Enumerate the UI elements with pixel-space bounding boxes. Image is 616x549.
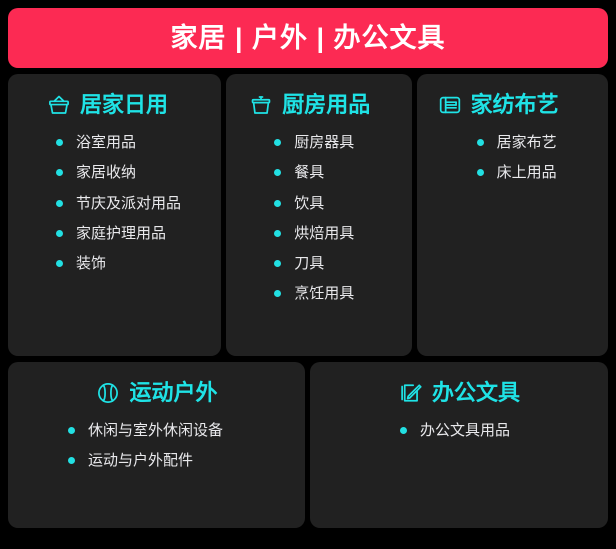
bullet-dot-icon <box>274 139 281 146</box>
list-item[interactable]: 餐具 <box>274 164 401 181</box>
list-item[interactable]: 饮具 <box>274 195 401 212</box>
list-item-label: 装饰 <box>76 255 106 272</box>
list-item[interactable]: 刀具 <box>274 255 401 272</box>
list-item-label: 饮具 <box>294 195 324 212</box>
list-item[interactable]: 办公文具用品 <box>400 422 598 439</box>
bullet-dot-icon <box>274 200 281 207</box>
bullet-dot-icon <box>400 427 407 434</box>
bullet-dot-icon <box>56 230 63 237</box>
bullet-dot-icon <box>56 260 63 267</box>
card-title: 家纺布艺 <box>471 94 559 116</box>
category-card-sports-outdoor[interactable]: 运动户外 休闲与室外休闲设备 运动与户外配件 <box>8 362 305 528</box>
list-item-label: 厨房器具 <box>294 134 354 151</box>
bullet-dot-icon <box>477 169 484 176</box>
list-item[interactable]: 节庆及派对用品 <box>56 195 211 212</box>
bullet-dot-icon <box>477 139 484 146</box>
list-item[interactable]: 装饰 <box>56 255 211 272</box>
card-header: 运动户外 <box>18 380 295 406</box>
bullet-dot-icon <box>68 457 75 464</box>
pot-icon <box>248 92 274 118</box>
list-item-label: 刀具 <box>294 255 324 272</box>
list-item-label: 烹饪用具 <box>294 285 354 302</box>
bullet-dot-icon <box>56 200 63 207</box>
list-item-label: 家庭护理用品 <box>76 225 166 242</box>
card-title: 居家日用 <box>80 94 168 116</box>
list-item[interactable]: 床上用品 <box>477 164 598 181</box>
list-item-label: 休闲与室外休闲设备 <box>88 422 223 439</box>
category-board: 家居 | 户外 | 办公文具 居家日用 浴室用品 <box>0 0 616 549</box>
bed-textile-icon <box>437 92 463 118</box>
card-header: 办公文具 <box>320 380 598 406</box>
list-item-label: 床上用品 <box>497 164 557 181</box>
category-card-home-daily[interactable]: 居家日用 浴室用品 家居收纳 节庆及派对用品 家庭护理用品 <box>8 74 221 356</box>
basket-icon <box>46 92 72 118</box>
bullet-dot-icon <box>274 260 281 267</box>
card-row-bottom: 运动户外 休闲与室外休闲设备 运动与户外配件 <box>8 362 608 528</box>
list-item[interactable]: 浴室用品 <box>56 134 211 151</box>
header-banner: 家居 | 户外 | 办公文具 <box>8 8 608 68</box>
list-item-label: 餐具 <box>294 164 324 181</box>
card-header: 家纺布艺 <box>427 92 598 118</box>
category-card-office-stationery[interactable]: 办公文具 办公文具用品 <box>310 362 608 528</box>
list-item[interactable]: 居家布艺 <box>477 134 598 151</box>
card-row-top: 居家日用 浴室用品 家居收纳 节庆及派对用品 家庭护理用品 <box>8 74 608 356</box>
list-item-label: 浴室用品 <box>76 134 136 151</box>
list-item-label: 办公文具用品 <box>420 422 510 439</box>
list-item[interactable]: 烘焙用具 <box>274 225 401 242</box>
list-item[interactable]: 家庭护理用品 <box>56 225 211 242</box>
list-item-label: 居家布艺 <box>497 134 557 151</box>
bullet-dot-icon <box>68 427 75 434</box>
category-item-list: 居家布艺 床上用品 <box>427 134 598 195</box>
category-item-list: 厨房器具 餐具 饮具 烘焙用具 刀具 <box>236 134 401 316</box>
notebook-pencil-icon <box>398 380 424 406</box>
bullet-dot-icon <box>56 169 63 176</box>
list-item[interactable]: 家居收纳 <box>56 164 211 181</box>
category-card-home-textile[interactable]: 家纺布艺 居家布艺 床上用品 <box>417 74 608 356</box>
card-title: 办公文具 <box>432 382 520 404</box>
bullet-dot-icon <box>274 169 281 176</box>
bullet-dot-icon <box>274 290 281 297</box>
ball-icon <box>95 380 121 406</box>
list-item[interactable]: 烹饪用具 <box>274 285 401 302</box>
card-title: 运动户外 <box>129 382 217 404</box>
bullet-dot-icon <box>56 139 63 146</box>
list-item-label: 运动与户外配件 <box>88 452 193 469</box>
list-item-label: 节庆及派对用品 <box>76 195 181 212</box>
list-item-label: 烘焙用具 <box>294 225 354 242</box>
page-title: 家居 | 户外 | 办公文具 <box>170 25 445 52</box>
list-item[interactable]: 厨房器具 <box>274 134 401 151</box>
category-card-kitchen[interactable]: 厨房用品 厨房器具 餐具 饮具 烘焙用具 <box>226 74 411 356</box>
list-item[interactable]: 运动与户外配件 <box>68 452 295 469</box>
category-item-list: 浴室用品 家居收纳 节庆及派对用品 家庭护理用品 装饰 <box>18 134 211 285</box>
list-item[interactable]: 休闲与室外休闲设备 <box>68 422 295 439</box>
category-item-list: 休闲与室外休闲设备 运动与户外配件 <box>18 422 295 483</box>
card-title: 厨房用品 <box>282 94 370 116</box>
bullet-dot-icon <box>274 230 281 237</box>
card-header: 厨房用品 <box>236 92 401 118</box>
card-header: 居家日用 <box>18 92 211 118</box>
list-item-label: 家居收纳 <box>76 164 136 181</box>
category-item-list: 办公文具用品 <box>320 422 598 452</box>
